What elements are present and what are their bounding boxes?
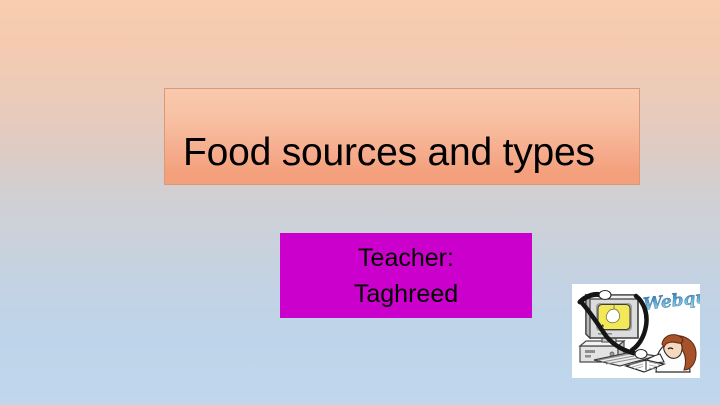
webquests-clipart-image: Webquests (572, 284, 700, 378)
hand-left-icon (599, 291, 611, 300)
teacher-name: Taghreed (354, 276, 458, 312)
teacher-credit-box: Teacher: Taghreed (280, 233, 532, 318)
presentation-slide: Food sources and types Teacher: Taghreed (0, 0, 720, 405)
title-box: Food sources and types (164, 88, 640, 185)
hand-right-icon (635, 350, 647, 359)
teacher-label: Teacher: (358, 240, 454, 276)
page-title: Food sources and types (183, 130, 595, 176)
